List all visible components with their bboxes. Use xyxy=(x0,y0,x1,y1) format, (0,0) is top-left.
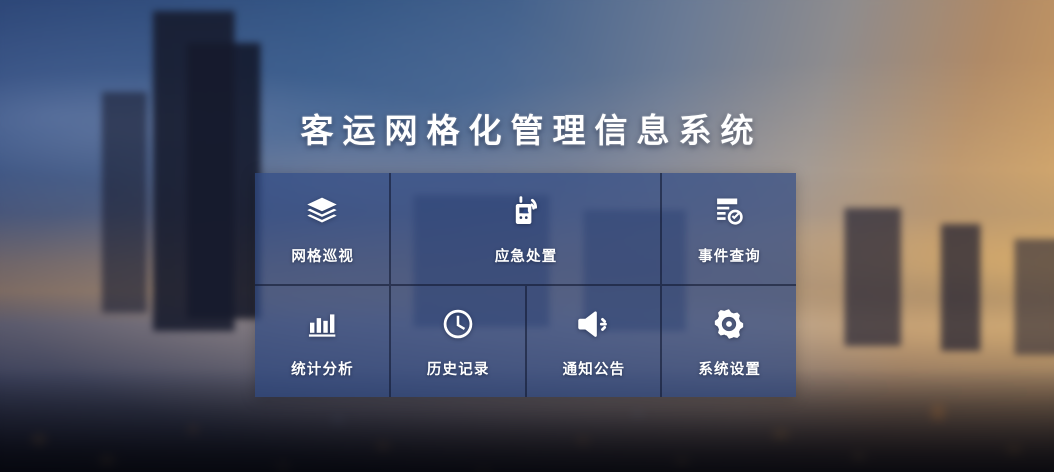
document-check-icon xyxy=(712,191,746,231)
menu-item-event-query[interactable]: 事件查询 xyxy=(662,173,796,284)
main-menu-panel: 网格巡视 应急处置 xyxy=(255,173,796,397)
menu-item-grid-patrol[interactable]: 网格巡视 xyxy=(255,173,391,284)
page-title: 客运网格化管理信息系统 xyxy=(0,104,1054,152)
content-layer: 客运网格化管理信息系统 网格巡视 xyxy=(0,0,1054,472)
walkie-talkie-icon xyxy=(509,191,543,231)
menu-item-statistical-analysis[interactable]: 统计分析 xyxy=(255,286,391,397)
menu-row-bottom: 统计分析 历史记录 xyxy=(255,286,796,397)
menu-item-system-settings[interactable]: 系统设置 xyxy=(662,286,796,397)
menu-item-label: 网格巡视 xyxy=(290,245,354,266)
menu-row-top: 网格巡视 应急处置 xyxy=(255,173,796,286)
menu-item-label: 应急处置 xyxy=(494,245,558,266)
menu-item-notice-announcement[interactable]: 通知公告 xyxy=(527,286,663,397)
menu-item-label: 事件查询 xyxy=(697,245,761,266)
clock-icon xyxy=(441,304,475,344)
menu-item-label: 统计分析 xyxy=(290,358,354,379)
gear-icon xyxy=(712,304,746,344)
menu-item-label: 系统设置 xyxy=(697,358,761,379)
menu-item-history-record[interactable]: 历史记录 xyxy=(391,286,527,397)
layers-icon xyxy=(305,191,339,231)
menu-item-label: 历史记录 xyxy=(426,358,490,379)
bar-chart-icon xyxy=(306,304,338,344)
app-root: 客运网格化管理信息系统 网格巡视 xyxy=(0,0,1054,472)
menu-item-emergency-response[interactable]: 应急处置 xyxy=(391,173,662,284)
menu-item-label: 通知公告 xyxy=(561,358,625,379)
megaphone-icon xyxy=(576,304,610,344)
